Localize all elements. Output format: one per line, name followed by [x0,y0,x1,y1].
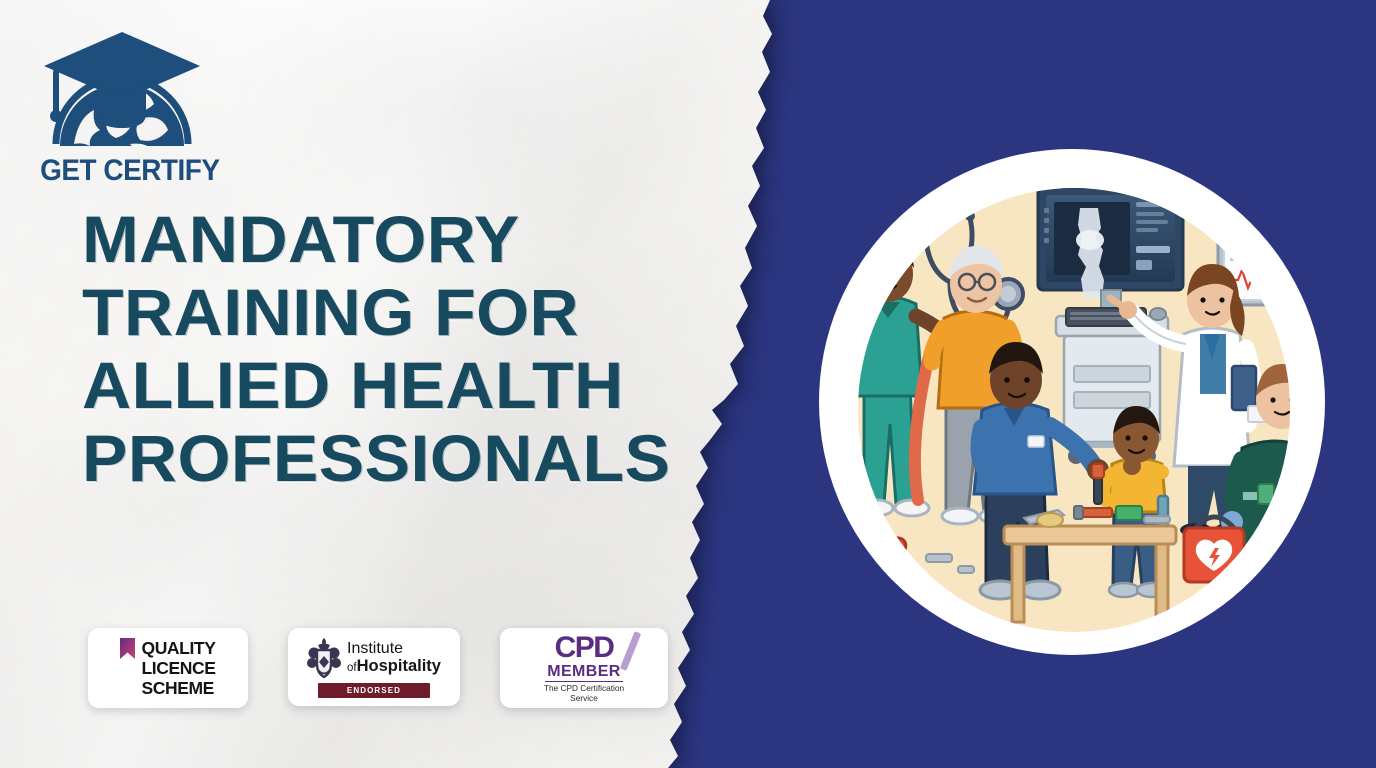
gloved-hand-2 [1305,515,1326,537]
qls-line-3: SCHEME [141,678,215,698]
cpd-sub-line-2: Service [508,694,660,704]
badge-institute-of-hospitality[interactable]: Institute ofHospitality ENDORSED [288,628,460,706]
leg-pocket [1296,514,1316,538]
stethoscope-diaphragm [1000,286,1016,302]
headline-line-3: ALLIED HEALTH [82,349,659,422]
qls-line-2: LICENCE [141,658,215,678]
page-title: MANDATORY TRAINING FOR ALLIED HEALTH PRO… [82,203,642,495]
poster-canvas: GET CERTIFY MANDATORY TRAINING FOR ALLIE… [0,0,1376,768]
cpd-level: MEMBER [545,663,623,682]
headline-line-4: PROFESSIONALS [82,422,659,495]
allied-health-scene-svg [818,148,1326,656]
brand-logo[interactable]: GET CERTIFY [34,26,210,176]
illustration-circle [818,148,1326,656]
ioh-endorsed-ribbon: ENDORSED [318,683,430,698]
ioh-of: of [347,662,357,674]
crest-shield-icon [307,636,341,680]
ioh-line-2: Hospitality [357,657,441,675]
tablet-icon [1232,366,1256,410]
badge-quality-licence-scheme[interactable]: QUALITY LICENCE SCHEME [88,628,248,708]
cpd-acronym: CPD [508,633,660,663]
graduation-cap-globe-icon [34,26,210,156]
qls-line-1: QUALITY [141,638,215,658]
name-badge [1028,436,1044,447]
mouse-icon [1150,308,1166,320]
green-block [1116,506,1142,520]
hammer-icon [1080,508,1112,517]
headline-line-1: MANDATORY [82,203,659,276]
accreditation-badges: QUALITY LICENCE SCHEME [88,628,668,708]
logo-wordmark: GET CERTIFY [40,154,204,188]
bookmark-icon [120,638,135,659]
badge-cpd-member[interactable]: CPD MEMBER The CPD Certification Service [500,628,668,708]
ioh-line-1: Institute [347,641,441,657]
headline-line-2: TRAINING FOR [82,276,659,349]
